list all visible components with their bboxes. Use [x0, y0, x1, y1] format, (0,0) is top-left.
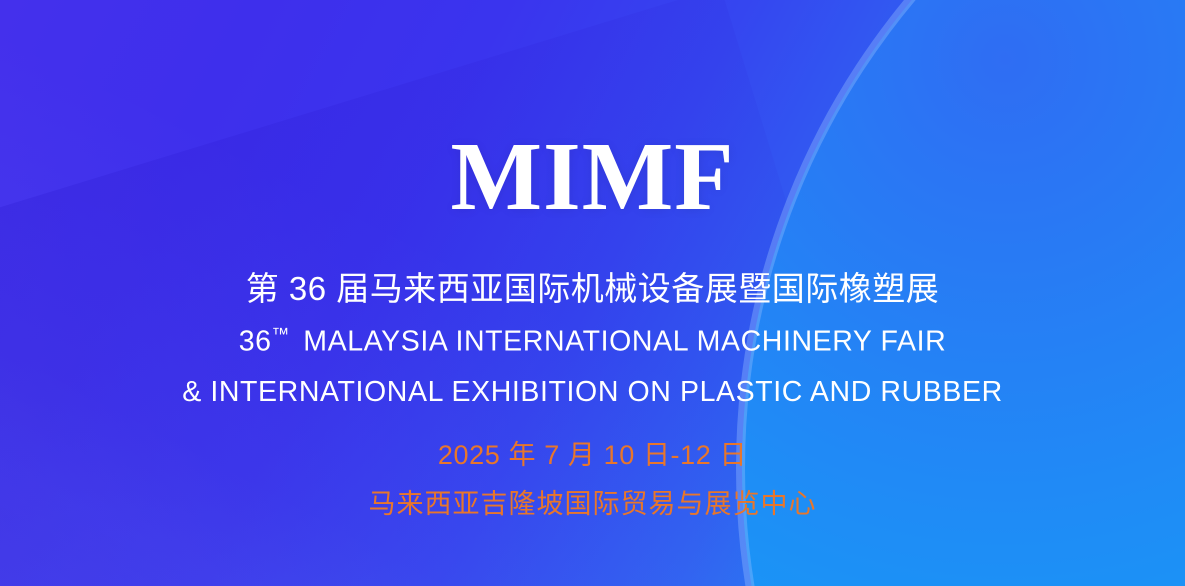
event-date: 2025 年 7 月 10 日-12 日 [438, 441, 747, 471]
banner-content: MIMF 第 36 届马来西亚国际机械设备展暨国际橡塑展 36™MALAYSIA… [0, 0, 1185, 586]
event-venue: 马来西亚吉隆坡国际贸易与展览中心 [369, 490, 817, 520]
event-banner: MIMF 第 36 届马来西亚国际机械设备展暨国际橡塑展 36™MALAYSIA… [0, 0, 1185, 586]
event-title-chinese: 第 36 届马来西亚国际机械设备展暨国际橡塑展 [246, 269, 940, 309]
event-title-english-line-1: 36™MALAYSIA INTERNATIONAL MACHINERY FAIR [239, 326, 947, 356]
mimf-wordmark: MIMF [450, 128, 734, 225]
edition-number: 36 [239, 325, 272, 357]
event-title-english-line-1-text: MALAYSIA INTERNATIONAL MACHINERY FAIR [303, 325, 946, 357]
event-title-english-line-2: & INTERNATIONAL EXHIBITION ON PLASTIC AN… [182, 378, 1003, 407]
trademark-symbol: ™ [272, 324, 290, 344]
